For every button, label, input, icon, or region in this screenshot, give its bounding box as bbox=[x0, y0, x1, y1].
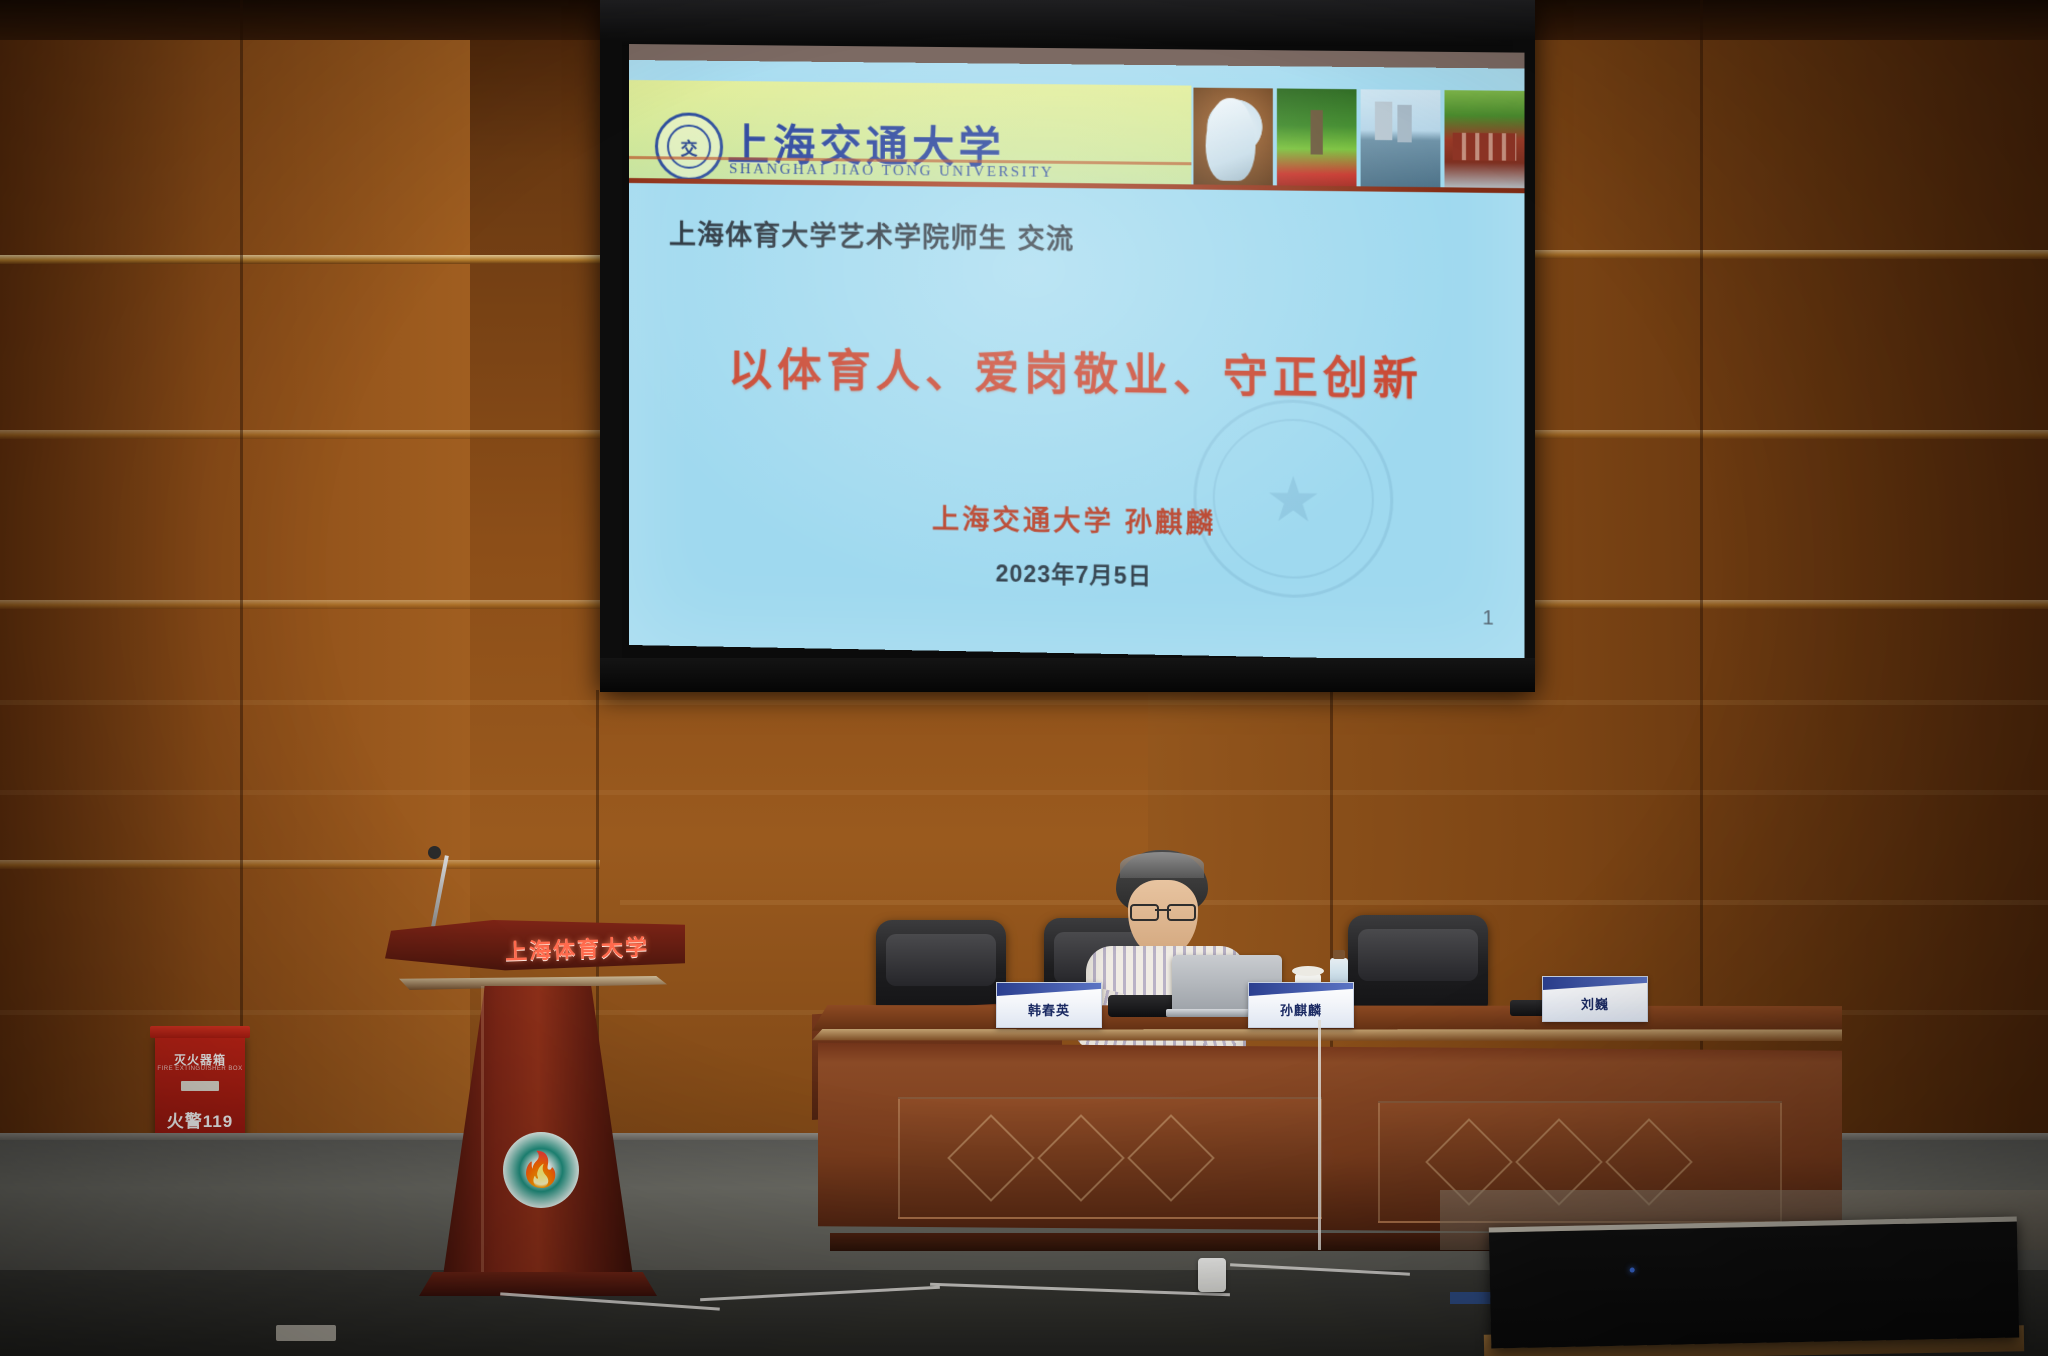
bottle-cap bbox=[1333, 950, 1345, 959]
wall-seam bbox=[0, 600, 600, 609]
screen-edge-left bbox=[600, 40, 622, 670]
podium-seam bbox=[481, 986, 484, 1276]
name-card: 孙麒麟 bbox=[1248, 982, 1354, 1028]
campus-waterfront-photo bbox=[1361, 89, 1441, 187]
screen-bottom-bar bbox=[600, 658, 1535, 692]
wall-seam bbox=[0, 255, 600, 264]
table-diamond-motif bbox=[1127, 1114, 1215, 1202]
name-card-band bbox=[997, 983, 1101, 996]
conference-chair bbox=[1348, 915, 1488, 1011]
name-card-text: 孙麒麟 bbox=[1280, 1000, 1322, 1019]
slide-page-number: 1 bbox=[1482, 607, 1493, 631]
wall-seam bbox=[0, 430, 600, 439]
foreground-audience bbox=[0, 1270, 2048, 1356]
stone-lion-statue-photo bbox=[1193, 88, 1272, 186]
wall-seam bbox=[0, 700, 2048, 705]
wall-seam bbox=[1535, 250, 2048, 259]
name-card-text: 刘巍 bbox=[1581, 994, 1609, 1013]
podium-microphone-head bbox=[428, 846, 441, 859]
table-trim bbox=[812, 1029, 1842, 1041]
table-diamond-motif bbox=[1037, 1114, 1125, 1202]
name-card: 韩春英 bbox=[996, 982, 1102, 1028]
slide-date: 2023年7月5日 bbox=[629, 548, 1524, 598]
screen-housing bbox=[600, 0, 1535, 46]
slide-headline: 以体育人、爱岗敬业、守正创新 bbox=[629, 332, 1524, 409]
name-card-text: 韩春英 bbox=[1028, 1000, 1070, 1019]
power-cable bbox=[1318, 1020, 1321, 1250]
wall-seam bbox=[620, 900, 2048, 905]
fire-box-emergency-number: 火警119 bbox=[155, 1107, 245, 1132]
wall-seam bbox=[0, 790, 2048, 795]
auditorium-scene: 交 上海交通大学 SHANGHAI JIAO TONG UNIVERSITY ★… bbox=[0, 0, 2048, 1356]
presenter-hair-highlight bbox=[1120, 852, 1204, 878]
podium-sign-text: 上海体育大学 bbox=[504, 929, 649, 966]
wall-seam bbox=[1535, 430, 2048, 439]
lectern-podium: 上海体育大学 🔥 bbox=[385, 920, 685, 1290]
presentation-slide: 交 上海交通大学 SHANGHAI JIAO TONG UNIVERSITY ★… bbox=[629, 60, 1524, 662]
podium-column bbox=[443, 986, 633, 1276]
mug-lid bbox=[1292, 966, 1324, 976]
wall-joint bbox=[1700, 0, 1703, 1140]
fire-extinguisher-box: 灭火器箱 FIRE EXTINGUISHER BOX 火警119 bbox=[155, 1035, 245, 1140]
sus-flame-logo-icon: 🔥 bbox=[503, 1132, 579, 1208]
wall-joint bbox=[240, 0, 243, 1140]
sjtu-seal-icon: 交 bbox=[655, 112, 723, 181]
campus-brick-building-photo bbox=[1444, 90, 1524, 188]
fire-box-cap bbox=[150, 1026, 250, 1038]
slide-header-band: 交 上海交通大学 SHANGHAI JIAO TONG UNIVERSITY bbox=[629, 80, 1191, 184]
table-diamond-motif bbox=[947, 1114, 1035, 1202]
table-decor-panel bbox=[898, 1097, 1322, 1219]
slide-subtitle: 上海体育大学艺术学院师生 交流 bbox=[669, 212, 1074, 256]
wall-seam bbox=[0, 860, 600, 869]
wall-seam bbox=[1535, 600, 2048, 609]
slide-photo-strip bbox=[1193, 88, 1524, 189]
conference-chair bbox=[876, 920, 1006, 1012]
name-card-band bbox=[1249, 983, 1353, 996]
name-card-band bbox=[1543, 977, 1647, 990]
fire-box-title-en: FIRE EXTINGUISHER BOX bbox=[155, 1066, 245, 1072]
fire-box-label-plate bbox=[181, 1081, 219, 1091]
name-card: 刘巍 bbox=[1542, 976, 1648, 1022]
glasses-icon bbox=[1130, 904, 1196, 917]
campus-garden-gate-photo bbox=[1277, 88, 1357, 186]
